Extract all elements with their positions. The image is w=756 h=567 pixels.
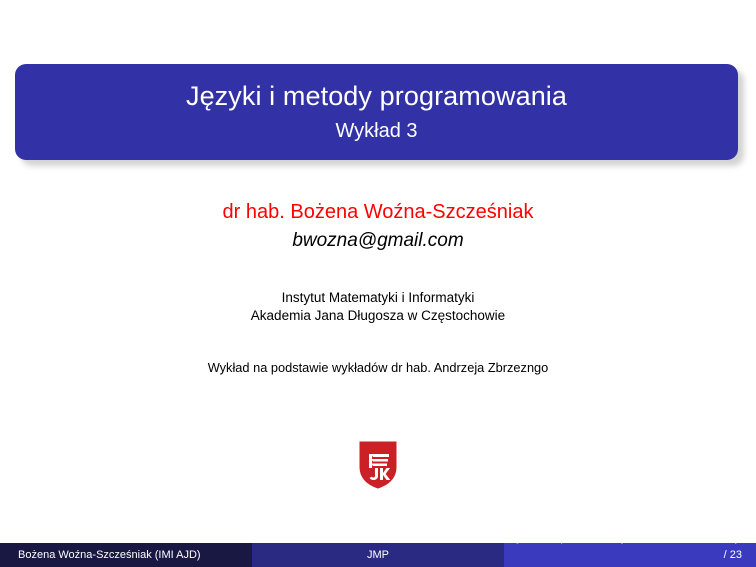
institution-line-2: Akademia Jana Długosza w Częstochowie: [0, 307, 756, 325]
footer-page-section: Wykład na podstawie wykładów dr hab. And…: [504, 543, 756, 567]
footer-page-number: / 23: [724, 549, 742, 561]
footer-course-label: JMP: [367, 549, 389, 561]
title-box: Języki i metody programowania Wykład 3: [15, 64, 738, 160]
slide-footer: Bożena Woźna-Szcześniak (IMI AJD) JMP Wy…: [0, 543, 756, 567]
institution-block: Instytut Matematyki i Informatyki Akadem…: [0, 289, 756, 325]
ajd-shield-logo-icon: [359, 441, 397, 489]
page-title: Języki i metody programowania: [186, 81, 567, 111]
institution-line-1: Instytut Matematyki i Informatyki: [0, 289, 756, 307]
footer-author-section: Bożena Woźna-Szcześniak (IMI AJD): [0, 543, 252, 567]
footer-overflow-title: Wykład na podstawie wykładów dr hab. And…: [506, 543, 756, 544]
author-name: dr hab. Bożena Woźna-Szcześniak: [0, 200, 756, 224]
page-subtitle: Wykład 3: [335, 119, 417, 143]
presentation-slide: Języki i metody programowania Wykład 3 d…: [0, 0, 756, 567]
footer-author-label: Bożena Woźna-Szcześniak (IMI AJD): [18, 549, 201, 561]
author-email[interactable]: bwozna@gmail.com: [0, 230, 756, 253]
attribution-note: Wykład na podstawie wykładów dr hab. And…: [0, 360, 756, 377]
footer-course-section: JMP: [252, 543, 504, 567]
logo-container: [0, 441, 756, 489]
author-block: dr hab. Bożena Woźna-Szcześniak bwozna@g…: [0, 200, 756, 253]
